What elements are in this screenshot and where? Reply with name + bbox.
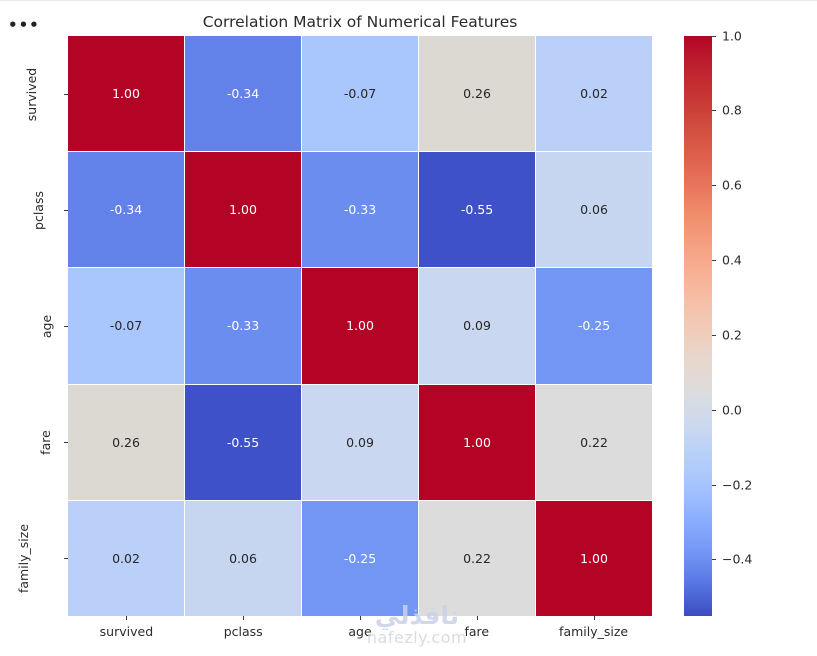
heatmap-cell: -0.33 bbox=[185, 268, 301, 383]
x-axis-tick-label: age bbox=[302, 624, 419, 639]
x-tick-mark bbox=[360, 616, 361, 620]
colorbar-tick-mark bbox=[712, 185, 716, 186]
colorbar-tick-label: 0.8 bbox=[722, 103, 742, 118]
colorbar-tick-mark bbox=[712, 485, 716, 486]
heatmap-cell-value: 1.00 bbox=[463, 435, 491, 450]
heatmap-cell-value: 0.09 bbox=[346, 435, 374, 450]
heatmap-cell-value: 1.00 bbox=[580, 551, 608, 566]
x-axis-tick-family_size: family_size bbox=[535, 616, 652, 639]
heatmap-cell: 0.02 bbox=[68, 501, 184, 616]
heatmap-cell: -0.55 bbox=[185, 385, 301, 500]
heatmap-cell-value: -0.55 bbox=[227, 435, 259, 450]
x-tick-mark bbox=[477, 616, 478, 620]
heatmap-cell: -0.07 bbox=[68, 268, 184, 383]
heatmap-cell-value: -0.07 bbox=[344, 86, 376, 101]
heatmap-cell-value: -0.25 bbox=[578, 318, 610, 333]
page-title: Correlation Matrix of Numerical Features bbox=[68, 13, 652, 31]
y-axis-tick-label: age bbox=[39, 314, 54, 337]
colorbar-tick-label: −0.4 bbox=[722, 552, 752, 567]
x-axis-ticks: survivedpclassagefarefamily_size bbox=[68, 616, 652, 656]
colorbar-ticks: 1.00.80.60.40.20.0−0.2−0.4 bbox=[712, 36, 772, 616]
y-axis-tick-pclass: pclass bbox=[0, 152, 68, 268]
heatmap-cell: -0.34 bbox=[185, 36, 301, 151]
heatmap-cell: 0.09 bbox=[302, 385, 418, 500]
heatmap-cell: 1.00 bbox=[536, 501, 652, 616]
y-tick-mark bbox=[64, 210, 68, 211]
heatmap-cell-value: 0.06 bbox=[229, 551, 257, 566]
colorbar-tick-label: 1.0 bbox=[722, 28, 742, 43]
heatmap-cell: 1.00 bbox=[419, 385, 535, 500]
colorbar: 1.00.80.60.40.20.0−0.2−0.4 bbox=[684, 36, 712, 616]
heatmap-cell-value: -0.33 bbox=[344, 202, 376, 217]
y-axis-tick-label: survived bbox=[24, 67, 39, 120]
heatmap-cell-value: 0.26 bbox=[463, 86, 491, 101]
heatmap-cell: -0.34 bbox=[68, 152, 184, 267]
heatmap-cell: 0.09 bbox=[419, 268, 535, 383]
colorbar-tick-label: 0.0 bbox=[722, 402, 742, 417]
x-tick-mark bbox=[243, 616, 244, 620]
y-axis-tick-family_size: family_size bbox=[0, 500, 68, 616]
heatmap-cell-value: 0.02 bbox=[580, 86, 608, 101]
x-axis-tick-fare: fare bbox=[418, 616, 535, 639]
heatmap-cell: 0.02 bbox=[536, 36, 652, 151]
x-axis-tick-pclass: pclass bbox=[185, 616, 302, 639]
x-axis-tick-label: fare bbox=[418, 624, 535, 639]
colorbar-tick-label: 0.2 bbox=[722, 327, 742, 342]
y-axis-tick-age: age bbox=[0, 268, 68, 384]
heatmap-cell-value: 0.06 bbox=[580, 202, 608, 217]
heatmap-cell: -0.33 bbox=[302, 152, 418, 267]
heatmap-cell-value: -0.34 bbox=[110, 202, 142, 217]
colorbar-tick-mark bbox=[712, 410, 716, 411]
heatmap-cell-value: -0.07 bbox=[110, 318, 142, 333]
heatmap-cell-value: 0.02 bbox=[112, 551, 140, 566]
heatmap-cell: 1.00 bbox=[185, 152, 301, 267]
heatmap-cell: -0.07 bbox=[302, 36, 418, 151]
colorbar-tick-mark bbox=[712, 559, 716, 560]
heatmap-cell: -0.25 bbox=[302, 501, 418, 616]
y-axis-tick-label: family_size bbox=[16, 523, 31, 592]
heatmap-cell: 0.06 bbox=[185, 501, 301, 616]
colorbar-tick-label: −0.2 bbox=[722, 477, 752, 492]
y-tick-mark bbox=[64, 326, 68, 327]
heatmap-cell-value: 0.09 bbox=[463, 318, 491, 333]
y-axis-tick-label: pclass bbox=[31, 191, 46, 230]
heatmap-cell: 0.06 bbox=[536, 152, 652, 267]
heatmap-cell-value: 1.00 bbox=[229, 202, 257, 217]
heatmap-cell: -0.25 bbox=[536, 268, 652, 383]
heatmap-cell: 1.00 bbox=[68, 36, 184, 151]
colorbar-tick-label: 0.4 bbox=[722, 253, 742, 268]
correlation-heatmap-figure: Correlation Matrix of Numerical Features… bbox=[0, 0, 817, 656]
heatmap-cell-value: 1.00 bbox=[112, 86, 140, 101]
y-axis-ticks: survivedpclassagefarefamily_size bbox=[0, 36, 68, 616]
heatmap-cell-value: -0.34 bbox=[227, 86, 259, 101]
heatmap-cell-value: 0.22 bbox=[463, 551, 491, 566]
heatmap-cell: 1.00 bbox=[302, 268, 418, 383]
heatmap-cell-value: -0.33 bbox=[227, 318, 259, 333]
x-axis-tick-age: age bbox=[302, 616, 419, 639]
heatmap-cell-value: -0.55 bbox=[461, 202, 493, 217]
x-tick-mark bbox=[594, 616, 595, 620]
heatmap-cell-value: 0.26 bbox=[112, 435, 140, 450]
heatmap-cell-value: 0.22 bbox=[580, 435, 608, 450]
heatmap-cell-value: -0.25 bbox=[344, 551, 376, 566]
y-tick-mark bbox=[64, 94, 68, 95]
colorbar-tick-mark bbox=[712, 335, 716, 336]
x-tick-mark bbox=[126, 616, 127, 620]
heatmap-cell: 0.26 bbox=[68, 385, 184, 500]
colorbar-tick-mark bbox=[712, 260, 716, 261]
y-axis-tick-fare: fare bbox=[0, 384, 68, 500]
x-axis-tick-survived: survived bbox=[68, 616, 185, 639]
colorbar-tick-mark bbox=[712, 110, 716, 111]
heatmap-cell: -0.55 bbox=[419, 152, 535, 267]
heatmap-cell: 0.26 bbox=[419, 36, 535, 151]
colorbar-tick-mark bbox=[712, 36, 716, 37]
colorbar-gradient bbox=[684, 36, 712, 616]
heatmap-cell-value: 1.00 bbox=[346, 318, 374, 333]
y-axis-tick-survived: survived bbox=[0, 36, 68, 152]
x-axis-tick-label: survived bbox=[68, 624, 185, 639]
heatmap-cell: 0.22 bbox=[419, 501, 535, 616]
heatmap-cell: 0.22 bbox=[536, 385, 652, 500]
y-tick-mark bbox=[64, 558, 68, 559]
colorbar-tick-label: 0.6 bbox=[722, 178, 742, 193]
y-axis-tick-label: fare bbox=[38, 430, 53, 455]
y-tick-mark bbox=[64, 442, 68, 443]
x-axis-tick-label: family_size bbox=[535, 624, 652, 639]
heatmap-grid: 1.00-0.34-0.070.260.02-0.341.00-0.33-0.5… bbox=[68, 36, 652, 616]
x-axis-tick-label: pclass bbox=[185, 624, 302, 639]
